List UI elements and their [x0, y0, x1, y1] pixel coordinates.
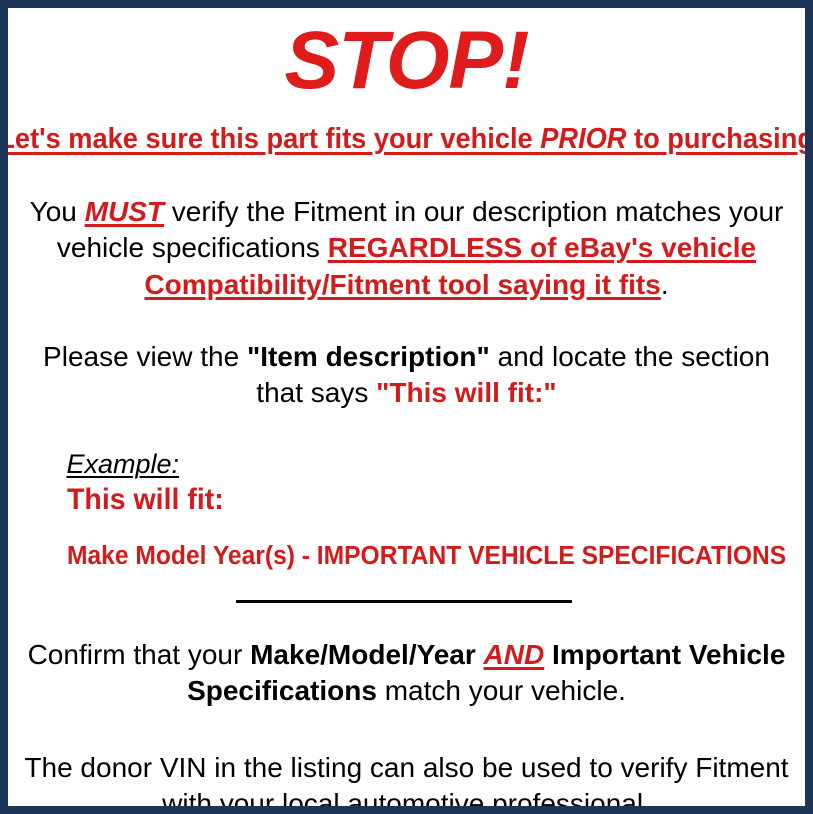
locate-paragraph: Please view the "Item description" and l…: [22, 339, 792, 412]
example-block: Example: This will fit: Make Model Year(…: [22, 450, 792, 572]
banner-prefix: *Let's make sure this part fits your veh…: [0, 123, 541, 155]
verify-seg1: You: [30, 196, 85, 227]
item-description-emphasis: "Item description": [247, 341, 490, 372]
verify-seg3: .: [661, 269, 669, 300]
notice-content: STOP! *Let's make sure this part fits yo…: [8, 8, 805, 806]
section-divider: [236, 600, 572, 603]
this-will-fit-emphasis: "This will fit:": [376, 377, 557, 408]
make-model-year-emphasis: Make/Model/Year: [250, 639, 476, 670]
banner-emphasis-prior: PRIOR: [541, 123, 627, 155]
confirm-paragraph: Confirm that your Make/Model/Year AND Im…: [22, 637, 792, 710]
example-spec-line: Make Model Year(s) - IMPORTANT VEHICLE S…: [67, 541, 767, 572]
example-label: Example:: [67, 450, 792, 480]
divider-wrap: [22, 600, 792, 603]
fitment-notice-card: STOP! *Let's make sure this part fits yo…: [0, 0, 813, 814]
banner-suffix: to purchasing*: [627, 123, 813, 155]
stop-headline: STOP!: [284, 20, 528, 102]
must-emphasis: MUST: [85, 196, 164, 227]
locate-seg1: Please view the: [43, 341, 247, 372]
and-emphasis: AND: [484, 639, 545, 670]
verify-banner: *Let's make sure this part fits your veh…: [0, 123, 813, 156]
confirm-seg2: match your vehicle.: [377, 675, 626, 706]
confirm-seg1: Confirm that your: [28, 639, 251, 670]
example-will-fit-heading: This will fit:: [67, 482, 756, 518]
verify-paragraph: You MUST verify the Fitment in our descr…: [22, 194, 792, 303]
vin-paragraph: The donor VIN in the listing can also be…: [22, 750, 792, 814]
